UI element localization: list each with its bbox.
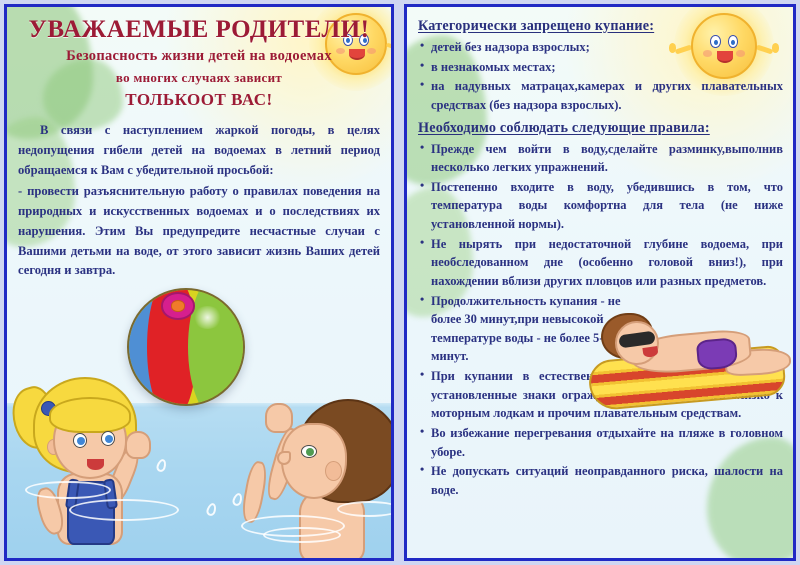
list-item: детей без надзора взрослых; xyxy=(418,38,703,57)
list-item: Постепенно входите в воду, убедившись в … xyxy=(418,178,783,234)
sunbather-illustration xyxy=(585,305,796,413)
boy-ear xyxy=(325,461,342,481)
list-item: на надувных матрацах,камерах и других пл… xyxy=(418,77,783,114)
prohibited-heading: Категорически запрещено купание: xyxy=(418,18,783,35)
girl-eye-right xyxy=(101,431,115,446)
girl-illustration xyxy=(15,375,165,561)
ball-panel-green xyxy=(188,288,245,406)
prohibited-list: детей без надзора взрослых; в незнакомых… xyxy=(418,38,783,115)
poster-subtitle-2: во многих случаях зависит xyxy=(21,70,377,86)
poster-title: УВАЖАЕМЫЕ РОДИТЕЛИ! xyxy=(21,17,377,43)
water-ripple xyxy=(337,501,394,517)
girl-eye-left xyxy=(73,433,87,448)
water-ripple xyxy=(263,527,341,543)
left-panel: УВАЖАЕМЫЕ РОДИТЕЛИ! Безопасность жизни д… xyxy=(4,4,394,561)
boy-eye xyxy=(301,445,317,458)
paragraph: - провести разъяснительную работу о прав… xyxy=(18,182,380,281)
water-ripple xyxy=(69,499,179,521)
left-body-text: В связи с наступлением жаркой погоды, в … xyxy=(18,121,380,281)
list-item: Не нырять при недостаточной глубине водо… xyxy=(418,235,783,291)
girl-raised-hand xyxy=(125,431,151,459)
boy-raised-hand xyxy=(265,403,293,433)
paragraph: В связи с наступлением жаркой погоды, в … xyxy=(18,121,380,181)
girl-bangs xyxy=(49,397,131,433)
title-block: УВАЖАЕМЫЕ РОДИТЕЛИ! Безопасность жизни д… xyxy=(7,7,391,110)
ball-highlight xyxy=(193,306,223,329)
boy-nose xyxy=(277,451,291,465)
water-ripple xyxy=(25,481,111,499)
list-item: Прежде чем войти в воду,сделайте разминк… xyxy=(418,140,783,177)
list-item: Во избежание перегревания отдыхайте на п… xyxy=(418,424,783,461)
poster-subtitle-1: Безопасность жизни детей на водоемах xyxy=(21,48,377,65)
rules-heading: Необходимо соблюдать следующие правила: xyxy=(418,120,783,137)
right-content: Категорически запрещено купание: детей б… xyxy=(407,7,793,499)
list-item: Не допускать ситуаций неоправданного рис… xyxy=(418,462,783,499)
list-item: в незнакомых местах; xyxy=(418,58,703,77)
right-panel: Категорически запрещено купание: детей б… xyxy=(404,4,796,561)
safety-poster: УВАЖАЕМЫЕ РОДИТЕЛИ! Безопасность жизни д… xyxy=(0,0,800,565)
poster-subtitle-3: ТОЛЬКООТ ВАС! xyxy=(21,90,377,110)
girl-mouth xyxy=(87,459,104,470)
ball-valve xyxy=(161,292,195,319)
